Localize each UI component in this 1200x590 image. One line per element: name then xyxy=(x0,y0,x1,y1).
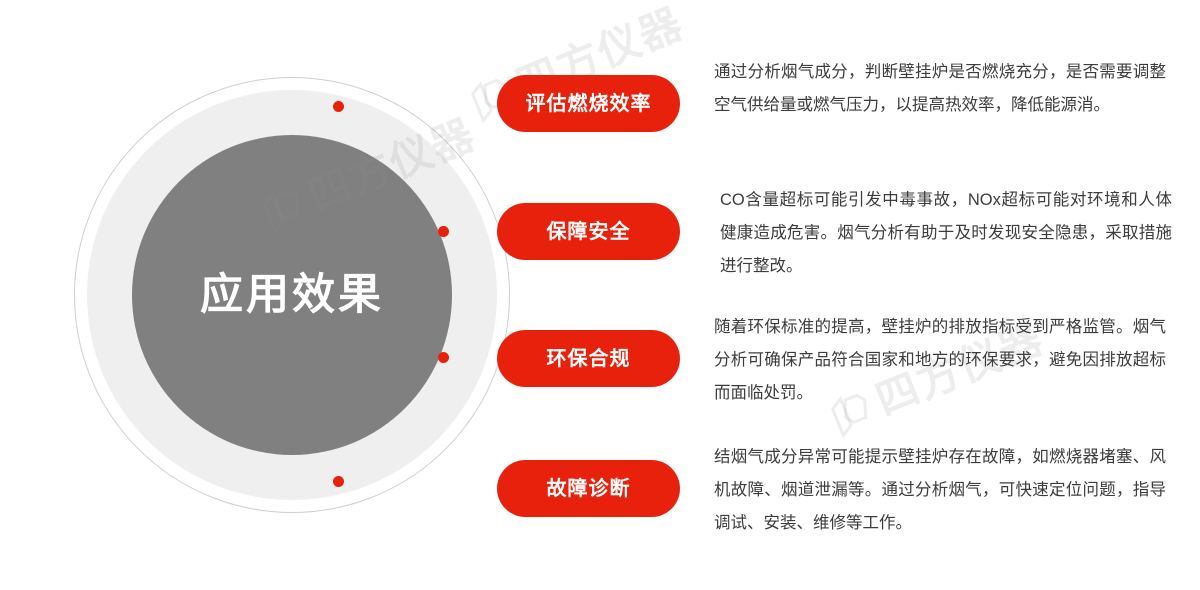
category-pill-2[interactable]: 保障安全 xyxy=(497,203,680,260)
category-pill-3[interactable]: 环保合规 xyxy=(497,330,680,387)
description-text-1: 通过分析烟气成分，判断壁挂炉是否燃烧充分，是否需要调整空气供给量或燃气压力，以提… xyxy=(714,56,1166,122)
connector-dot-1 xyxy=(333,101,344,112)
category-pill-label: 保障安全 xyxy=(547,222,631,242)
description-text-4: 结烟气成分异常可能提示壁挂炉存在故障，如燃烧器堵塞、风机故障、烟道泄漏等。通过分… xyxy=(714,441,1166,540)
core-circle: 应用效果 xyxy=(132,135,452,455)
connector-dot-4 xyxy=(333,476,344,487)
connector-dot-2 xyxy=(438,226,449,237)
category-pill-label: 故障诊断 xyxy=(547,479,631,499)
infographic-canvas: 应用效果 四方仪器 四方仪器 xyxy=(0,0,1200,590)
connector-dot-3 xyxy=(438,352,449,363)
category-pill-1[interactable]: 评估燃烧效率 xyxy=(497,75,680,132)
category-pill-label: 环保合规 xyxy=(547,349,631,369)
center-label: 应用效果 xyxy=(200,274,384,317)
description-text-2: CO含量超标可能引发中毒事故，NOx超标可能对环境和人体健康造成危害。烟气分析有… xyxy=(720,184,1172,283)
category-pill-label: 评估燃烧效率 xyxy=(526,94,652,114)
category-pill-4[interactable]: 故障诊断 xyxy=(497,460,680,517)
description-text-3: 随着环保标准的提高，壁挂炉的排放指标受到严格监管。烟气分析可确保产品符合国家和地… xyxy=(714,311,1166,410)
